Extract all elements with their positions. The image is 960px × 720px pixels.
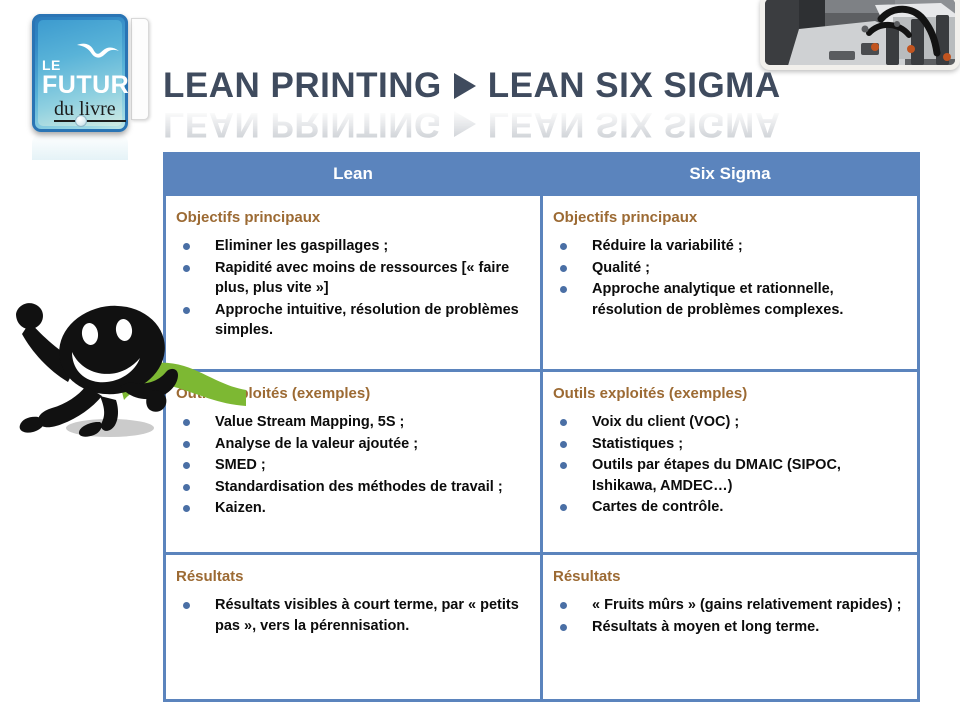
- list-item: Réduire la variabilité ;: [553, 236, 903, 257]
- list-item: Kaizen.: [176, 498, 526, 519]
- list-item: « Fruits mûrs » (gains relativement rapi…: [553, 595, 903, 616]
- play-triangle-icon: [454, 73, 476, 99]
- list-item: Outils par étapes du DMAIC (SIPOC, Ishik…: [553, 455, 903, 496]
- cell-sixsigma-resultats: Résultats « Fruits mûrs » (gains relativ…: [542, 554, 919, 701]
- logo-line-2: FUTUR: [42, 73, 128, 98]
- cell-bullet-list: Réduire la variabilité ; Qualité ; Appro…: [553, 236, 903, 320]
- cell-bullet-list: Value Stream Mapping, 5S ; Analyse de la…: [176, 412, 526, 519]
- logo-line-1: LE: [42, 58, 128, 72]
- cell-bullet-list: « Fruits mûrs » (gains relativement rapi…: [553, 595, 903, 637]
- list-item: Cartes de contrôle.: [553, 497, 903, 518]
- logo-book-cover: LE FUTUR du livre: [32, 14, 128, 132]
- table-row: Outils exploités (exemples) Value Stream…: [165, 371, 919, 554]
- column-header-six-sigma: Six Sigma: [542, 154, 919, 195]
- list-item: Analyse de la valeur ajoutée ;: [176, 434, 526, 455]
- play-triangle-icon-reflection: [454, 112, 476, 138]
- list-item: SMED ;: [176, 455, 526, 476]
- list-item: Standardisation des méthodes de travail …: [176, 477, 526, 498]
- logo-reflection: [32, 134, 128, 160]
- cell-lean-resultats: Résultats Résultats visibles à court ter…: [165, 554, 542, 701]
- table-row: Résultats Résultats visibles à court ter…: [165, 554, 919, 701]
- list-item: Résultats visibles à court terme, par « …: [176, 595, 526, 636]
- logo-line-3: du livre: [54, 99, 126, 122]
- photo-illustration: [765, 0, 957, 69]
- title-part-2: LEAN SIX SIGMA: [488, 68, 781, 103]
- mascot-body: [16, 299, 178, 437]
- cell-heading: Résultats: [176, 568, 526, 586]
- cell-bullet-list: Voix du client (VOC) ; Statistiques ; Ou…: [553, 412, 903, 518]
- cell-lean-objectifs: Objectifs principaux Eliminer les gaspil…: [165, 195, 542, 371]
- title-reflect-part-2: LEAN SIX SIGMA: [488, 107, 781, 142]
- slide-title-text: LEAN PRINTING LEAN SIX SIGMA: [163, 68, 763, 103]
- cell-heading: Outils exploités (exemples): [553, 385, 903, 403]
- logo-text-group: LE FUTUR du livre: [42, 58, 128, 122]
- slide-canvas: LE FUTUR du livre: [0, 0, 960, 720]
- list-item: Eliminer les gaspillages ;: [176, 236, 526, 257]
- logo-home-button: [75, 115, 87, 127]
- cell-heading: Objectifs principaux: [176, 209, 526, 227]
- list-item: Approche analytique et rationnelle, réso…: [553, 279, 903, 320]
- logo-page-edge: [131, 18, 149, 120]
- mascot-shadow: [66, 419, 154, 437]
- column-header-lean: Lean: [165, 154, 542, 195]
- cell-heading: Outils exploités (exemples): [176, 385, 526, 403]
- cell-bullet-list: Résultats visibles à court terme, par « …: [176, 595, 526, 636]
- list-item: Rapidité avec moins de ressources [« fai…: [176, 258, 526, 299]
- list-item: Statistiques ;: [553, 434, 903, 455]
- mascot-left-eye: [81, 322, 100, 346]
- list-item: Voix du client (VOC) ;: [553, 412, 903, 433]
- mascot-smile: [72, 352, 140, 382]
- title-reflect-part-1: LEAN PRINTING: [163, 107, 442, 142]
- list-item: Résultats à moyen et long terme.: [553, 617, 903, 638]
- list-item: Value Stream Mapping, 5S ;: [176, 412, 526, 433]
- cell-heading: Résultats: [553, 568, 903, 586]
- list-item: Qualité ;: [553, 258, 903, 279]
- printing-machine-photo: [760, 0, 960, 70]
- list-item: Approche intuitive, résolution de problè…: [176, 300, 526, 341]
- table-header-row: Lean Six Sigma: [165, 154, 919, 195]
- cell-bullet-list: Eliminer les gaspillages ; Rapidité avec…: [176, 236, 526, 341]
- lean-vs-sixsigma-table: Lean Six Sigma Objectifs principaux Elim…: [163, 152, 920, 702]
- table-row: Objectifs principaux Eliminer les gaspil…: [165, 195, 919, 371]
- le-futur-du-livre-logo: LE FUTUR du livre: [22, 8, 142, 158]
- cell-lean-outils: Outils exploités (exemples) Value Stream…: [165, 371, 542, 554]
- title-part-1: LEAN PRINTING: [163, 68, 442, 103]
- slide-title-reflection: LEAN PRINTING LEAN SIX SIGMA: [163, 107, 781, 142]
- slide-title: LEAN PRINTING LEAN SIX SIGMA LEAN PRINTI…: [163, 68, 763, 138]
- mascot-face: [72, 318, 140, 382]
- cell-sixsigma-outils: Outils exploités (exemples) Voix du clie…: [542, 371, 919, 554]
- cell-heading: Objectifs principaux: [553, 209, 903, 227]
- cell-sixsigma-objectifs: Objectifs principaux Réduire la variabil…: [542, 195, 919, 371]
- mascot-right-eye: [115, 318, 134, 342]
